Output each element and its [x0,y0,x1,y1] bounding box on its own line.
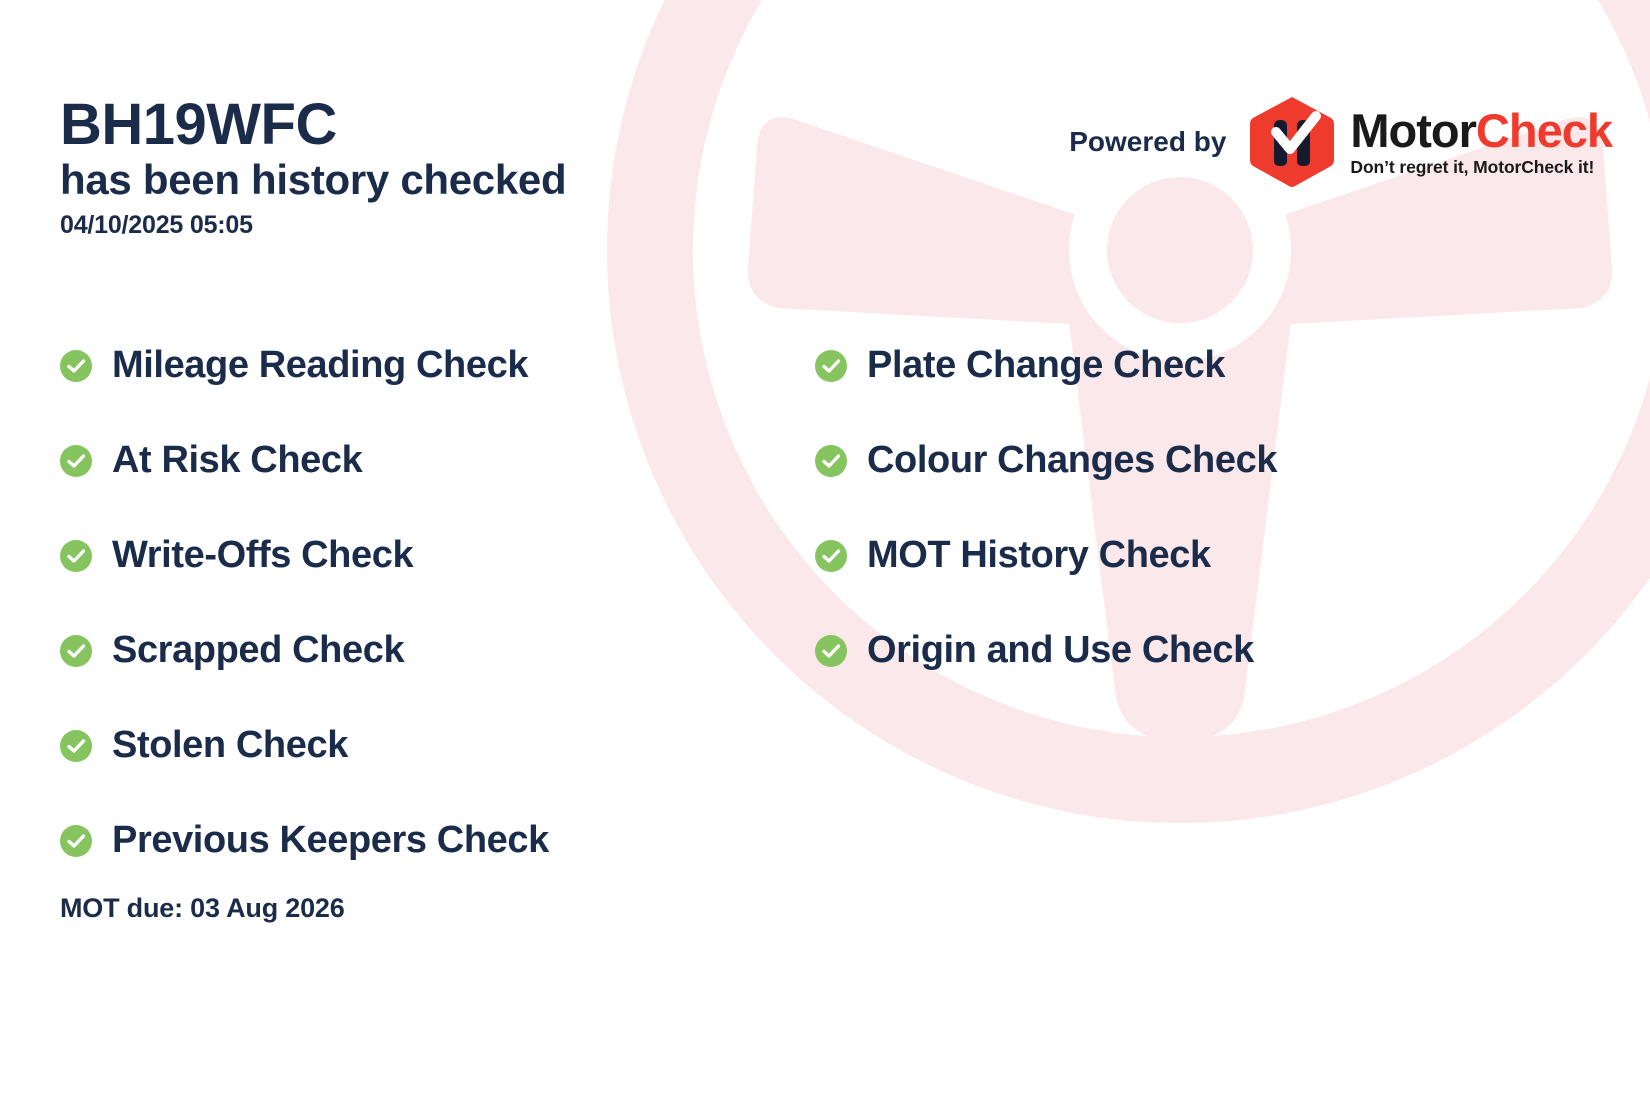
page-title: BH19WFC [60,95,566,154]
check-circle-icon [60,350,92,382]
vehicle-history-check-card: BH19WFC has been history checked 04/10/2… [0,0,1650,1100]
check-circle-icon [60,730,92,762]
check-label: Write-Offs Check [112,534,413,577]
motorcheck-logo[interactable]: MotorCheck Don’t regret it, MotorCheck i… [1248,96,1612,188]
page-subtitle: has been history checked [60,156,566,203]
brand-tagline: Don’t regret it, MotorCheck it! [1350,159,1612,177]
list-item: Scrapped Check [60,603,760,698]
check-circle-icon [815,540,847,572]
check-label: Origin and Use Check [867,629,1254,672]
list-item: Stolen Check [60,698,760,793]
list-item: Previous Keepers Check [60,793,760,888]
header: BH19WFC has been history checked 04/10/2… [60,95,566,240]
check-label: At Risk Check [112,439,362,482]
check-label: Scrapped Check [112,629,404,672]
list-item: Write-Offs Check [60,508,760,603]
motorcheck-hexagon-logo-icon [1248,96,1336,188]
list-item: Colour Changes Check [815,413,1515,508]
list-item: Mileage Reading Check [60,318,760,413]
check-circle-icon [815,635,847,667]
check-label: Mileage Reading Check [112,344,528,387]
check-circle-icon [815,445,847,477]
check-timestamp: 04/10/2025 05:05 [60,211,566,240]
check-label: Colour Changes Check [867,439,1277,482]
check-circle-icon [60,445,92,477]
check-circle-icon [60,635,92,667]
checks-right-column: Plate Change Check Colour Changes Check … [815,318,1515,698]
wordmark-check: Check [1476,104,1612,157]
list-item: Origin and Use Check [815,603,1515,698]
check-label: Stolen Check [112,724,348,767]
check-label: Previous Keepers Check [112,819,549,862]
check-label: MOT History Check [867,534,1211,577]
list-item: At Risk Check [60,413,760,508]
checks-left-column: Mileage Reading Check At Risk Check Writ… [60,318,760,888]
wheel-hub-centre [1107,177,1253,323]
motorcheck-wordmark: MotorCheck Don’t regret it, MotorCheck i… [1350,107,1612,177]
powered-by-label: Powered by [1069,126,1226,158]
list-item: MOT History Check [815,508,1515,603]
wordmark-name: MotorCheck [1350,107,1612,154]
wordmark-motor: Motor [1350,104,1476,157]
list-item: Plate Change Check [815,318,1515,413]
check-circle-icon [815,350,847,382]
brand-lockup-container: Powered by MotorCheck Don’t regret it, M… [1069,96,1612,188]
mot-due-label: MOT due: 03 Aug 2026 [60,893,345,924]
check-label: Plate Change Check [867,344,1225,387]
check-circle-icon [60,540,92,572]
check-circle-icon [60,825,92,857]
